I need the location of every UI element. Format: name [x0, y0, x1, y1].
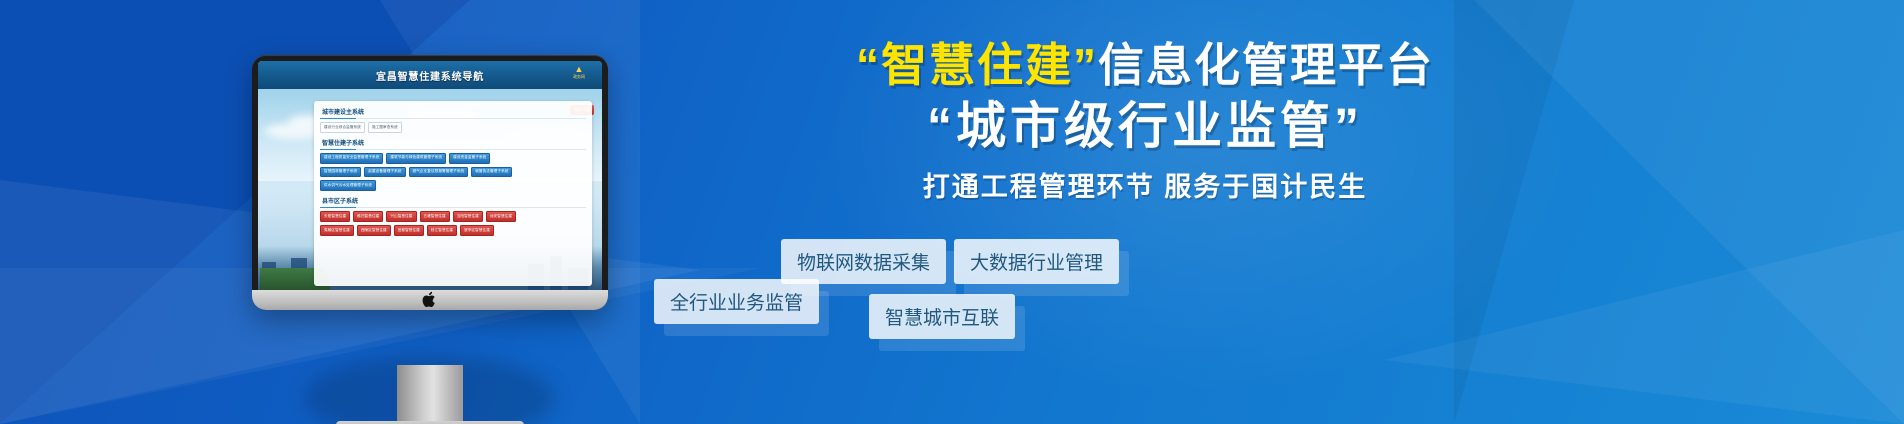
nav-button[interactable]: 枝江智慧住建: [427, 225, 457, 236]
section-button-row: 建设工程质量安全监督管理子系统 建筑节能与绿色建筑管理子系统 建设资金监管子系统: [320, 153, 586, 164]
screen-section-main-system: 城市建设主系统 建设行业综合监管系统 施工图审查系统: [320, 105, 586, 133]
section-title: 城市建设主系统: [320, 105, 586, 118]
section-button-row: 长阳智慧住建 秭归智慧住建 兴山智慧住建 五峰智慧住建 当阳智慧住建 远安智慧住…: [320, 211, 586, 222]
tag-bigdata-management[interactable]: 大数据行业管理: [954, 239, 1119, 284]
screen-content-panel: 城市建设主系统 建设行业综合监管系统 施工图审查系统 智慧住建子系统: [314, 101, 592, 286]
headline-line-2: “城市级行业监管”: [640, 96, 1650, 157]
nav-button[interactable]: 当阳智慧住建: [453, 211, 483, 222]
nav-button[interactable]: 远安智慧住建: [486, 211, 516, 222]
nav-button[interactable]: 建设行业综合监管系统: [320, 122, 365, 133]
screen-header-badge[interactable]: ▲ 政务网: [562, 64, 596, 80]
headline-line-3: 打通工程管理环节 服务于国计民生: [640, 165, 1650, 204]
section-divider: [320, 118, 586, 119]
nav-button[interactable]: 建设工程质量安全监督管理子系统: [320, 153, 383, 164]
nav-button[interactable]: 西陵区智慧住建: [357, 225, 391, 236]
section-button-row: 供水供气污水处理管理子系统: [320, 180, 586, 191]
monitor-chin: [252, 290, 608, 310]
nav-button[interactable]: 长阳智慧住建: [320, 211, 350, 222]
nav-button[interactable]: 建设资金监管子系统: [449, 153, 490, 164]
promo-banner: 宜昌智慧住建系统导航 ▲ 政务网 资料下载 城市建设主系统: [0, 0, 1904, 424]
badge-glyph-icon: ▲: [562, 64, 596, 74]
nav-button[interactable]: 猇亭区智慧住建: [460, 225, 494, 236]
nav-button[interactable]: 夷陵区智慧住建: [320, 225, 354, 236]
section-button-row: 建设行业综合监管系统 施工图审查系统: [320, 122, 586, 133]
monitor-screen: 宜昌智慧住建系统导航 ▲ 政务网 资料下载 城市建设主系统: [258, 61, 602, 292]
screen-header-bar: 宜昌智慧住建系统导航 ▲ 政务网: [258, 61, 602, 89]
nav-button[interactable]: 供水供气污水处理管理子系统: [320, 180, 376, 191]
screen-header-title: 宜昌智慧住建系统导航: [376, 68, 484, 83]
headline-line-1: “智慧住建”信息化管理平台: [640, 38, 1650, 92]
section-divider: [320, 149, 586, 150]
nav-button[interactable]: 建筑节能与绿色建筑管理子系统: [386, 153, 446, 164]
imac-mockup: 宜昌智慧住建系统导航 ▲ 政务网 资料下载 城市建设主系统: [252, 55, 608, 310]
section-title: 县市区子系统: [320, 194, 586, 207]
nav-button[interactable]: 施工图审查系统: [368, 122, 402, 133]
screen-section-county-systems: 县市区子系统 长阳智慧住建 秭归智慧住建 兴山智慧住建 五峰智慧住建 当阳智慧住…: [320, 194, 586, 236]
section-title: 智慧住建子系统: [320, 136, 586, 149]
nav-button[interactable]: 兴山智慧住建: [386, 211, 416, 222]
monitor-bezel: 宜昌智慧住建系统导航 ▲ 政务网 资料下载 城市建设主系统: [252, 55, 608, 310]
apple-logo-icon: [423, 291, 438, 308]
tag-smart-city[interactable]: 智慧城市互联: [869, 294, 1015, 339]
monitor-inner-bezel: 宜昌智慧住建系统导航 ▲ 政务网 资料下载 城市建设主系统: [258, 61, 602, 292]
nav-button[interactable]: 城管执法管理子系统: [471, 167, 512, 178]
nav-button[interactable]: 五峰智慧住建: [420, 211, 450, 222]
section-button-row: 智慧园林管理子系统 起重设备管理子系统 燃气企业复议预报警管理子系统 城管执法管…: [320, 167, 586, 178]
section-divider: [320, 207, 586, 208]
nav-button[interactable]: 智慧园林管理子系统: [320, 167, 361, 178]
nav-button[interactable]: 秭归智慧住建: [353, 211, 383, 222]
section-button-row: 夷陵区智慧住建 西陵区智慧住建 宜都智慧住建 枝江智慧住建 猇亭区智慧住建: [320, 225, 586, 236]
tag-iot-data-collection[interactable]: 物联网数据采集: [781, 239, 946, 284]
headline-block: “智慧住建”信息化管理平台 “城市级行业监管” 打通工程管理环节 服务于国计民生: [640, 38, 1650, 204]
tag-industry-supervision[interactable]: 全行业业务监管: [654, 279, 819, 324]
badge-label: 政务网: [562, 74, 596, 80]
screen-section-sub-systems: 智慧住建子系统 建设工程质量安全监督管理子系统 建筑节能与绿色建筑管理子系统 建…: [320, 136, 586, 191]
headline-highlight: “智慧住建”: [856, 39, 1098, 91]
nav-button[interactable]: 宜都智慧住建: [394, 225, 424, 236]
nav-button[interactable]: 起重设备管理子系统: [364, 167, 405, 178]
headline-line-1-rest: 信息化管理平台: [1098, 39, 1434, 91]
nav-button[interactable]: 燃气企业复议预报警管理子系统: [409, 167, 469, 178]
monitor-neck: [397, 365, 463, 424]
